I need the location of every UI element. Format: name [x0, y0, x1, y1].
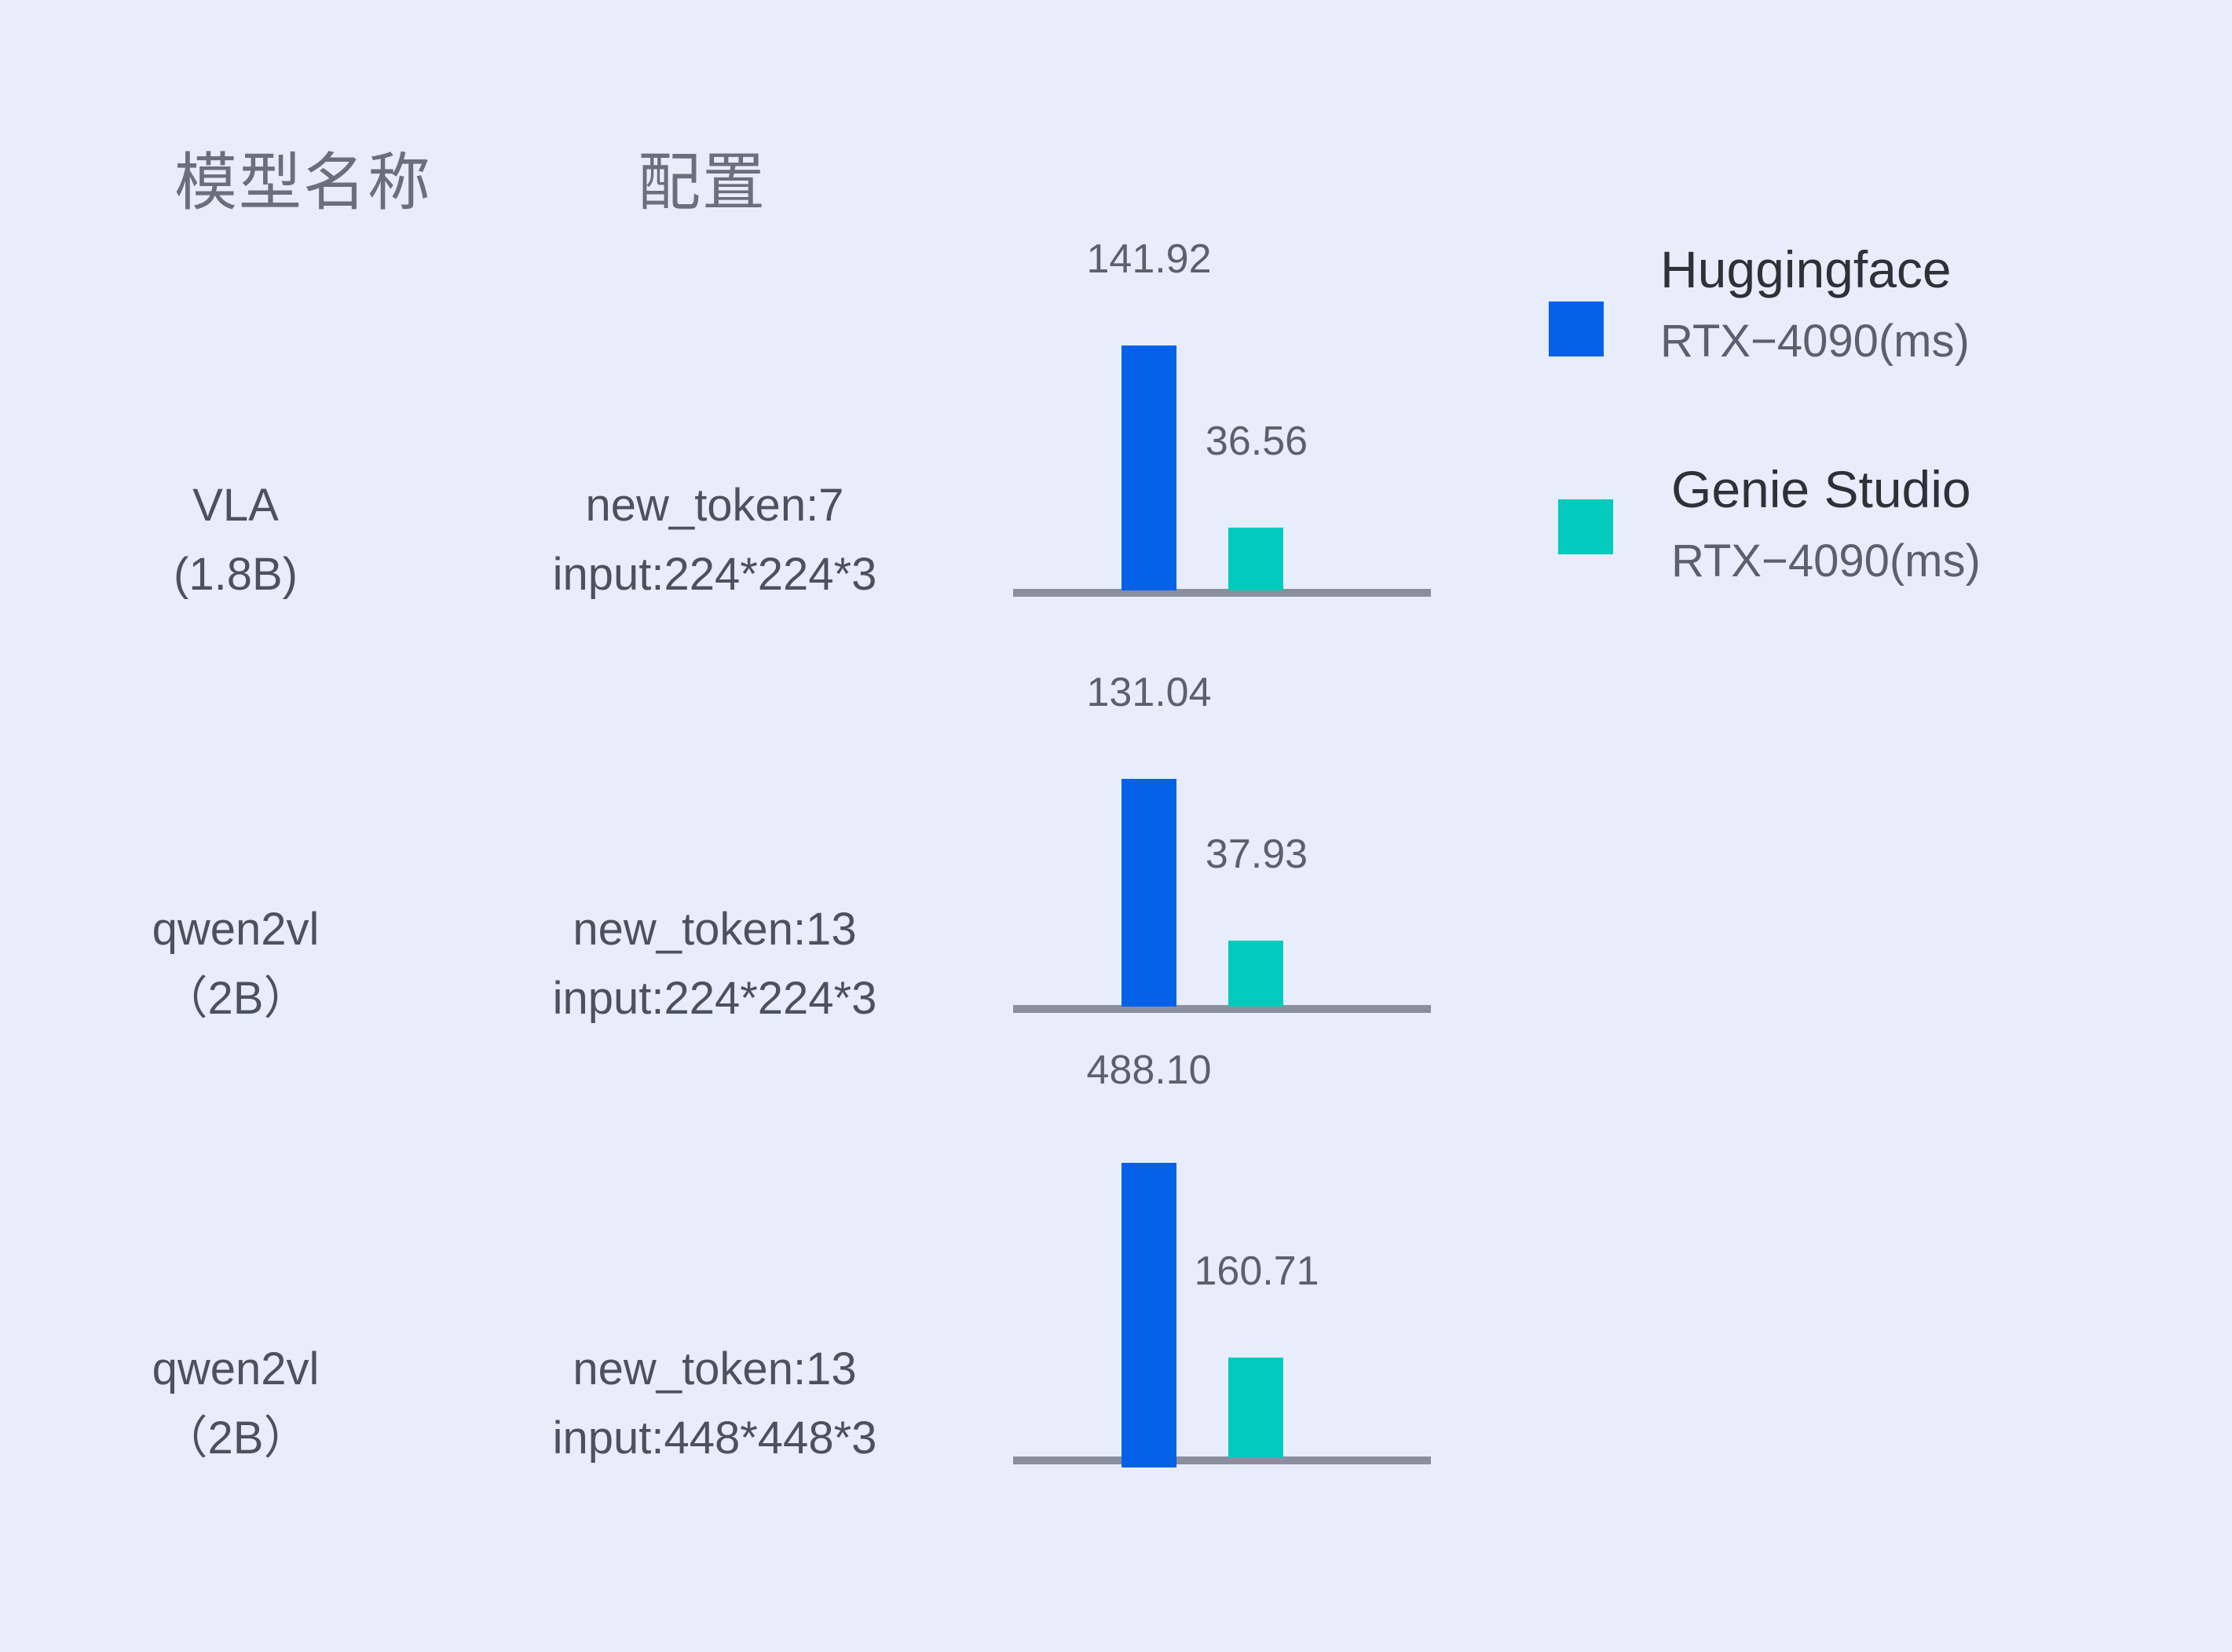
bar-genie-studio — [1228, 1358, 1283, 1458]
baseline-axis — [1013, 1456, 1431, 1464]
bar-genie-studio — [1228, 941, 1283, 1007]
row-model-name: VLA (1.8B) — [71, 471, 401, 609]
bar-genie-studio — [1228, 528, 1283, 590]
bar-value-huggingface: 141.92 — [1086, 236, 1211, 283]
row-config-line2: input:448*448*3 — [440, 1404, 990, 1473]
legend-item-huggingface[interactable]: Huggingface RTX−4090(ms) — [1541, 243, 2138, 463]
legend-label-group: Huggingface RTX−4090(ms) — [1660, 243, 2131, 364]
legend-item-genie-studio[interactable]: Genie Studio RTX−4090(ms) — [1541, 463, 2138, 683]
bar-huggingface — [1121, 345, 1176, 590]
row-model-name-line2: （2B） — [71, 1404, 401, 1473]
column-header-config: 配置 — [638, 132, 767, 223]
legend-subtitle: RTX−4090(ms) — [1660, 319, 2131, 364]
row-chart: 131.04 37.93 — [982, 644, 1469, 1013]
row-config: new_token:13 input:448*448*3 — [440, 1335, 990, 1473]
legend-title: Genie Studio — [1671, 463, 2142, 515]
row-config: new_token:7 input:224*224*3 — [440, 471, 990, 609]
bar-value-huggingface: 131.04 — [1086, 669, 1211, 716]
row-config: new_token:13 input:224*224*3 — [440, 895, 990, 1033]
row-config-line2: input:224*224*3 — [440, 964, 990, 1033]
bar-value-genie-studio: 160.71 — [1194, 1248, 1319, 1295]
legend-color-swatch-icon — [1558, 499, 1613, 554]
bar-huggingface — [1121, 779, 1176, 1007]
bar-huggingface — [1121, 1163, 1176, 1467]
bar-value-genie-studio: 36.56 — [1206, 418, 1308, 465]
baseline-axis — [1013, 589, 1431, 597]
bar-value-genie-studio: 37.93 — [1206, 831, 1308, 878]
chart-canvas: 模型名称 配置 VLA (1.8B) new_token:7 input:224… — [0, 0, 2232, 1652]
row-chart: 141.92 36.56 — [982, 228, 1469, 597]
row-model-name: qwen2vl （2B） — [71, 1335, 401, 1473]
row-config-line2: input:224*224*3 — [440, 540, 990, 609]
row-model-name-line2: (1.8B) — [71, 540, 401, 609]
row-config-line1: new_token:13 — [440, 1335, 990, 1404]
legend-title: Huggingface — [1660, 243, 2131, 295]
bar-value-huggingface: 488.10 — [1086, 1047, 1211, 1094]
baseline-axis — [1013, 1005, 1431, 1013]
row-chart: 488.10 160.71 — [982, 1095, 1469, 1464]
row-model-name-line1: qwen2vl — [71, 1335, 401, 1404]
legend-color-swatch-icon — [1549, 302, 1604, 356]
row-model-name: qwen2vl （2B） — [71, 895, 401, 1033]
chart-legend: Huggingface RTX−4090(ms) Genie Studio RT… — [1541, 243, 2138, 683]
legend-label-group: Genie Studio RTX−4090(ms) — [1671, 463, 2142, 584]
column-header-model-name: 模型名称 — [174, 132, 432, 223]
row-model-name-line2: （2B） — [71, 964, 401, 1033]
legend-subtitle: RTX−4090(ms) — [1671, 539, 2142, 584]
row-config-line1: new_token:13 — [440, 895, 990, 964]
row-model-name-line1: VLA — [71, 471, 401, 540]
row-config-line1: new_token:7 — [440, 471, 990, 540]
row-model-name-line1: qwen2vl — [71, 895, 401, 964]
